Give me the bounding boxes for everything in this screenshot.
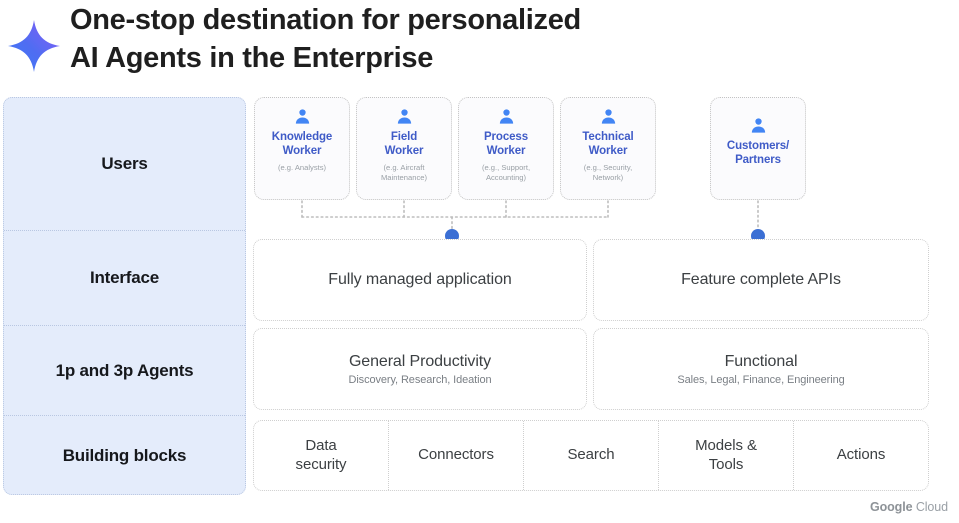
legend-label-interface: Interface — [90, 268, 159, 288]
sparkle-icon — [6, 18, 62, 74]
legend-label-users: Users — [101, 154, 147, 174]
building-block-label: Search — [568, 446, 615, 464]
user-card-subtitle: (e.g., Security,Network) — [584, 163, 632, 183]
legend-row-interface: Interface — [4, 231, 245, 326]
user-card-subtitle: (e.g., Support,Accounting) — [482, 163, 530, 183]
person-icon — [599, 107, 618, 126]
user-card-field-worker[interactable]: Field Worker (e.g. AircraftMaintenance) — [356, 97, 452, 200]
interface-box-feature-complete-apis[interactable]: Feature complete APIs — [593, 239, 929, 321]
legend-label-agents: 1p and 3p Agents — [56, 361, 194, 381]
person-icon — [293, 107, 312, 126]
building-block-actions[interactable]: Actions — [794, 421, 928, 490]
building-blocks-row: Data security Connectors Search Models &… — [253, 420, 929, 491]
building-block-label: Connectors — [418, 446, 494, 464]
google-cloud-wordmark: Google Cloud — [870, 500, 948, 514]
title-line-2: AI Agents in the Enterprise — [70, 40, 770, 78]
user-card-title: Process Worker — [484, 130, 528, 159]
page-title: One-stop destination for personalized AI… — [70, 2, 770, 77]
building-block-data-security[interactable]: Data security — [254, 421, 389, 490]
legend-row-agents: 1p and 3p Agents — [4, 326, 245, 416]
building-block-label: Data security — [296, 437, 347, 474]
interface-box-label: Feature complete APIs — [594, 240, 928, 320]
person-icon — [749, 116, 768, 135]
user-card-title: Field Worker — [385, 130, 424, 159]
user-card-customers-partners[interactable]: Customers/ Partners — [710, 97, 806, 200]
user-card-title: Customers/ Partners — [727, 139, 789, 168]
agents-box-title: Functional — [725, 353, 798, 371]
agents-box-title: General Productivity — [349, 353, 491, 371]
title-line-1: One-stop destination for personalized — [70, 2, 770, 40]
building-block-label: Actions — [837, 446, 886, 464]
user-card-title: Knowledge Worker — [272, 130, 332, 159]
agents-box-subtitle: Sales, Legal, Finance, Engineering — [677, 374, 844, 386]
legend-label-building-blocks: Building blocks — [63, 446, 187, 466]
user-card-knowledge-worker[interactable]: Knowledge Worker (e.g. Analysts) — [254, 97, 350, 200]
brand-cloud: Cloud — [912, 500, 948, 514]
layer-legend: Users Interface 1p and 3p Agents Buildin… — [3, 97, 246, 495]
interface-box-label: Fully managed application — [254, 240, 586, 320]
interface-box-fully-managed-application[interactable]: Fully managed application — [253, 239, 587, 321]
building-block-label: Models & Tools — [695, 437, 757, 474]
user-card-technical-worker[interactable]: Technical Worker (e.g., Security,Network… — [560, 97, 656, 200]
legend-row-users: Users — [4, 98, 245, 231]
legend-row-building-blocks: Building blocks — [4, 416, 245, 496]
person-icon — [497, 107, 516, 126]
user-card-title: Technical Worker — [582, 130, 633, 159]
agents-box-general-productivity[interactable]: General Productivity Discovery, Research… — [253, 328, 587, 410]
user-card-process-worker[interactable]: Process Worker (e.g., Support,Accounting… — [458, 97, 554, 200]
brand-google: Google — [870, 500, 912, 514]
agents-box-functional[interactable]: Functional Sales, Legal, Finance, Engine… — [593, 328, 929, 410]
agents-box-subtitle: Discovery, Research, Ideation — [348, 374, 491, 386]
building-block-search[interactable]: Search — [524, 421, 659, 490]
person-icon — [395, 107, 414, 126]
building-block-models-tools[interactable]: Models & Tools — [659, 421, 794, 490]
building-block-connectors[interactable]: Connectors — [389, 421, 524, 490]
user-card-subtitle: (e.g. Analysts) — [278, 163, 326, 173]
user-card-subtitle: (e.g. AircraftMaintenance) — [381, 163, 427, 183]
header: One-stop destination for personalized AI… — [0, 0, 959, 92]
